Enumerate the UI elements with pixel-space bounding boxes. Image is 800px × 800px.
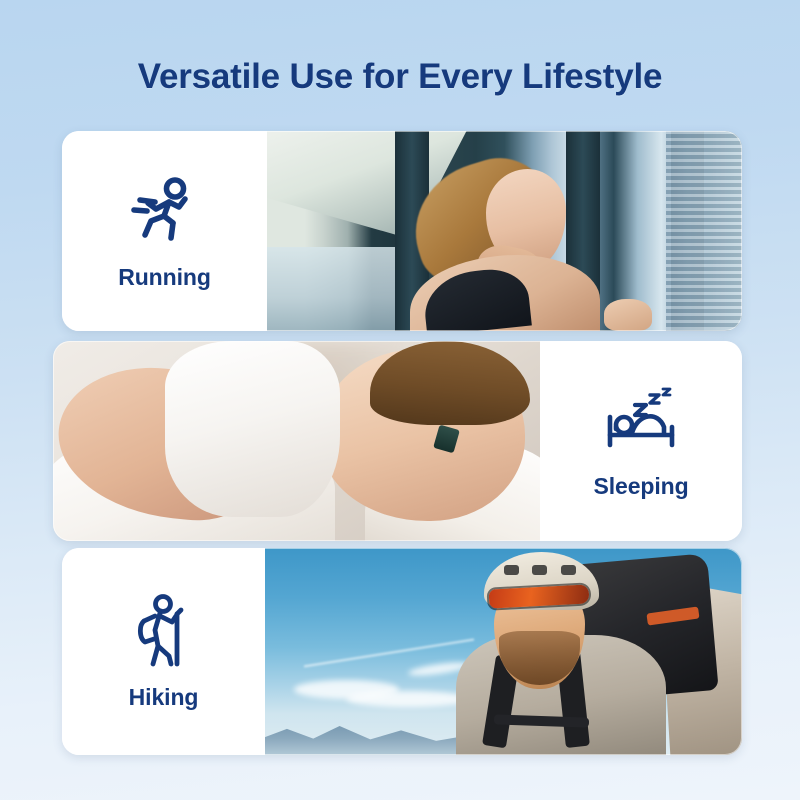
hiking-label: Hiking [129, 684, 199, 711]
man-sleeping-photo [53, 341, 540, 541]
running-label: Running [118, 264, 211, 291]
woman-running-indoors-photo [267, 131, 742, 331]
hiker-with-backpack-icon [122, 592, 206, 670]
lifestyle-card-hiking[interactable]: Hiking [62, 548, 742, 755]
running-person-icon [123, 172, 207, 250]
person-in-bed-zzz-icon [599, 383, 683, 461]
lifestyle-card-running[interactable]: Running [62, 131, 742, 331]
hiker-mountain-photo [265, 548, 742, 755]
lifestyle-card-list: Running [0, 0, 800, 800]
sleeping-info-panel: Sleeping [540, 341, 742, 541]
lifestyle-card-sleeping[interactable]: Sleeping [53, 341, 742, 541]
sleeping-label: Sleeping [593, 473, 688, 500]
hiking-info-panel: Hiking [62, 548, 265, 755]
running-info-panel: Running [62, 131, 267, 331]
